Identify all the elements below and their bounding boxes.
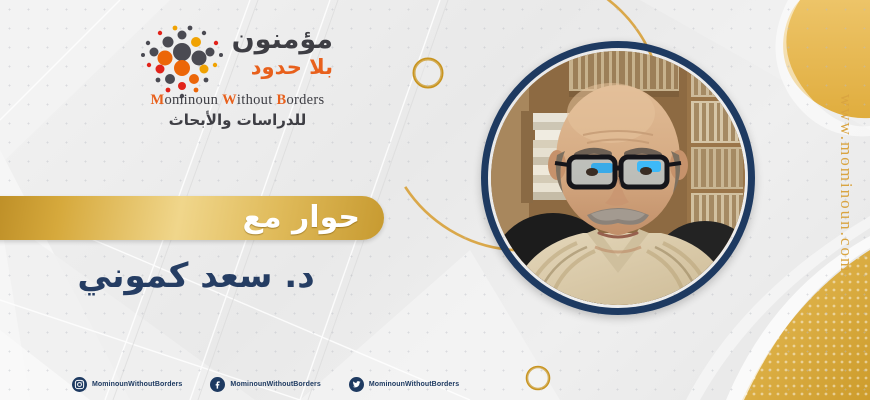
interview-banner: مؤمنون بلا حدود Mominoun Without Borders… [0,0,870,400]
logo-letter-m: M [151,92,165,108]
logo-arabic-wordmark: مؤمنون بلا حدود [228,26,333,86]
logo-english-wordmark: Mominoun Without Borders [140,92,335,109]
guest-portrait [481,41,755,315]
logo-word-ithout: ithout [237,92,277,108]
logo-arabic-bottom: بلا حدود [228,55,333,79]
organization-logo: مؤمنون بلا حدود Mominoun Without Borders… [140,22,335,130]
ribbon-label: حوار مع [243,196,361,240]
social-links-bar: MominounWithoutBorders MominounWithoutBo… [72,374,487,394]
logo-arabic-top: مؤمنون [228,26,333,54]
guest-name: د. سعد كموني [0,256,392,296]
social-link-facebook[interactable]: MominounWithoutBorders [210,377,320,392]
portrait-ring-border [481,41,755,315]
social-link-instagram[interactable]: MominounWithoutBorders [72,377,182,392]
instagram-icon [72,377,87,392]
section-ribbon: حوار مع [0,196,384,240]
website-url[interactable]: www.mominoun.com [836,94,856,273]
logo-word-orders: orders [286,92,324,108]
logo-letter-b: B [276,92,286,108]
logo-subtitle-arabic: للدراسات والأبحاث [140,111,335,129]
logo-word-ominoun: ominoun [165,92,223,108]
logo-letter-w: W [222,92,237,108]
social-link-twitter[interactable]: MominounWithoutBorders [349,377,459,392]
facebook-icon [210,377,225,392]
social-handle-twitter: MominounWithoutBorders [369,381,459,388]
social-handle-instagram: MominounWithoutBorders [92,381,182,388]
twitter-icon [349,377,364,392]
social-handle-facebook: MominounWithoutBorders [230,381,320,388]
